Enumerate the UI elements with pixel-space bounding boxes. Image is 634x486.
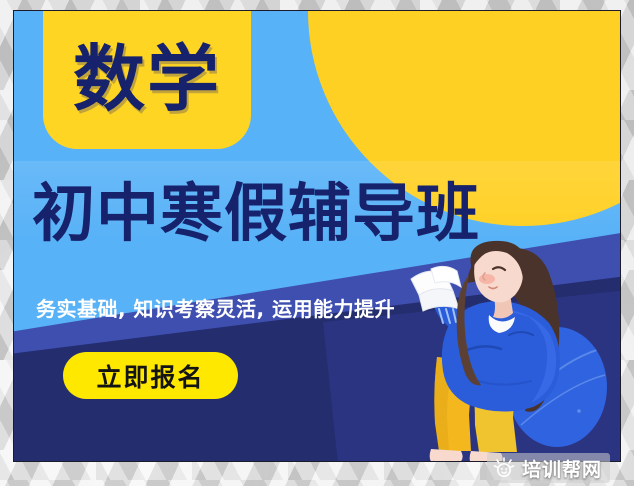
sun-smiley-icon [493, 457, 515, 479]
watermark: 培训帮网 [487, 453, 610, 483]
subtitle-text: 务实基础, 知识考察灵活, 运用能力提升 [36, 293, 395, 322]
headline-title: 初中寒假辅导班 [32, 182, 604, 245]
seated-woman-illustration [409, 239, 621, 462]
enroll-now-button[interactable]: 立即报名 [63, 352, 238, 399]
subject-badge: 数学 [43, 10, 251, 149]
enroll-now-button-label: 立即报名 [96, 358, 204, 394]
watermark-text: 培训帮网 [522, 455, 602, 482]
page-background: 数学 初中寒假辅导班 务实基础, 知识考察灵活, 运用能力提升 立即报名 [0, 0, 634, 486]
subject-badge-label: 数学 [73, 43, 221, 115]
promo-banner: 数学 初中寒假辅导班 务实基础, 知识考察灵活, 运用能力提升 立即报名 [13, 10, 621, 462]
